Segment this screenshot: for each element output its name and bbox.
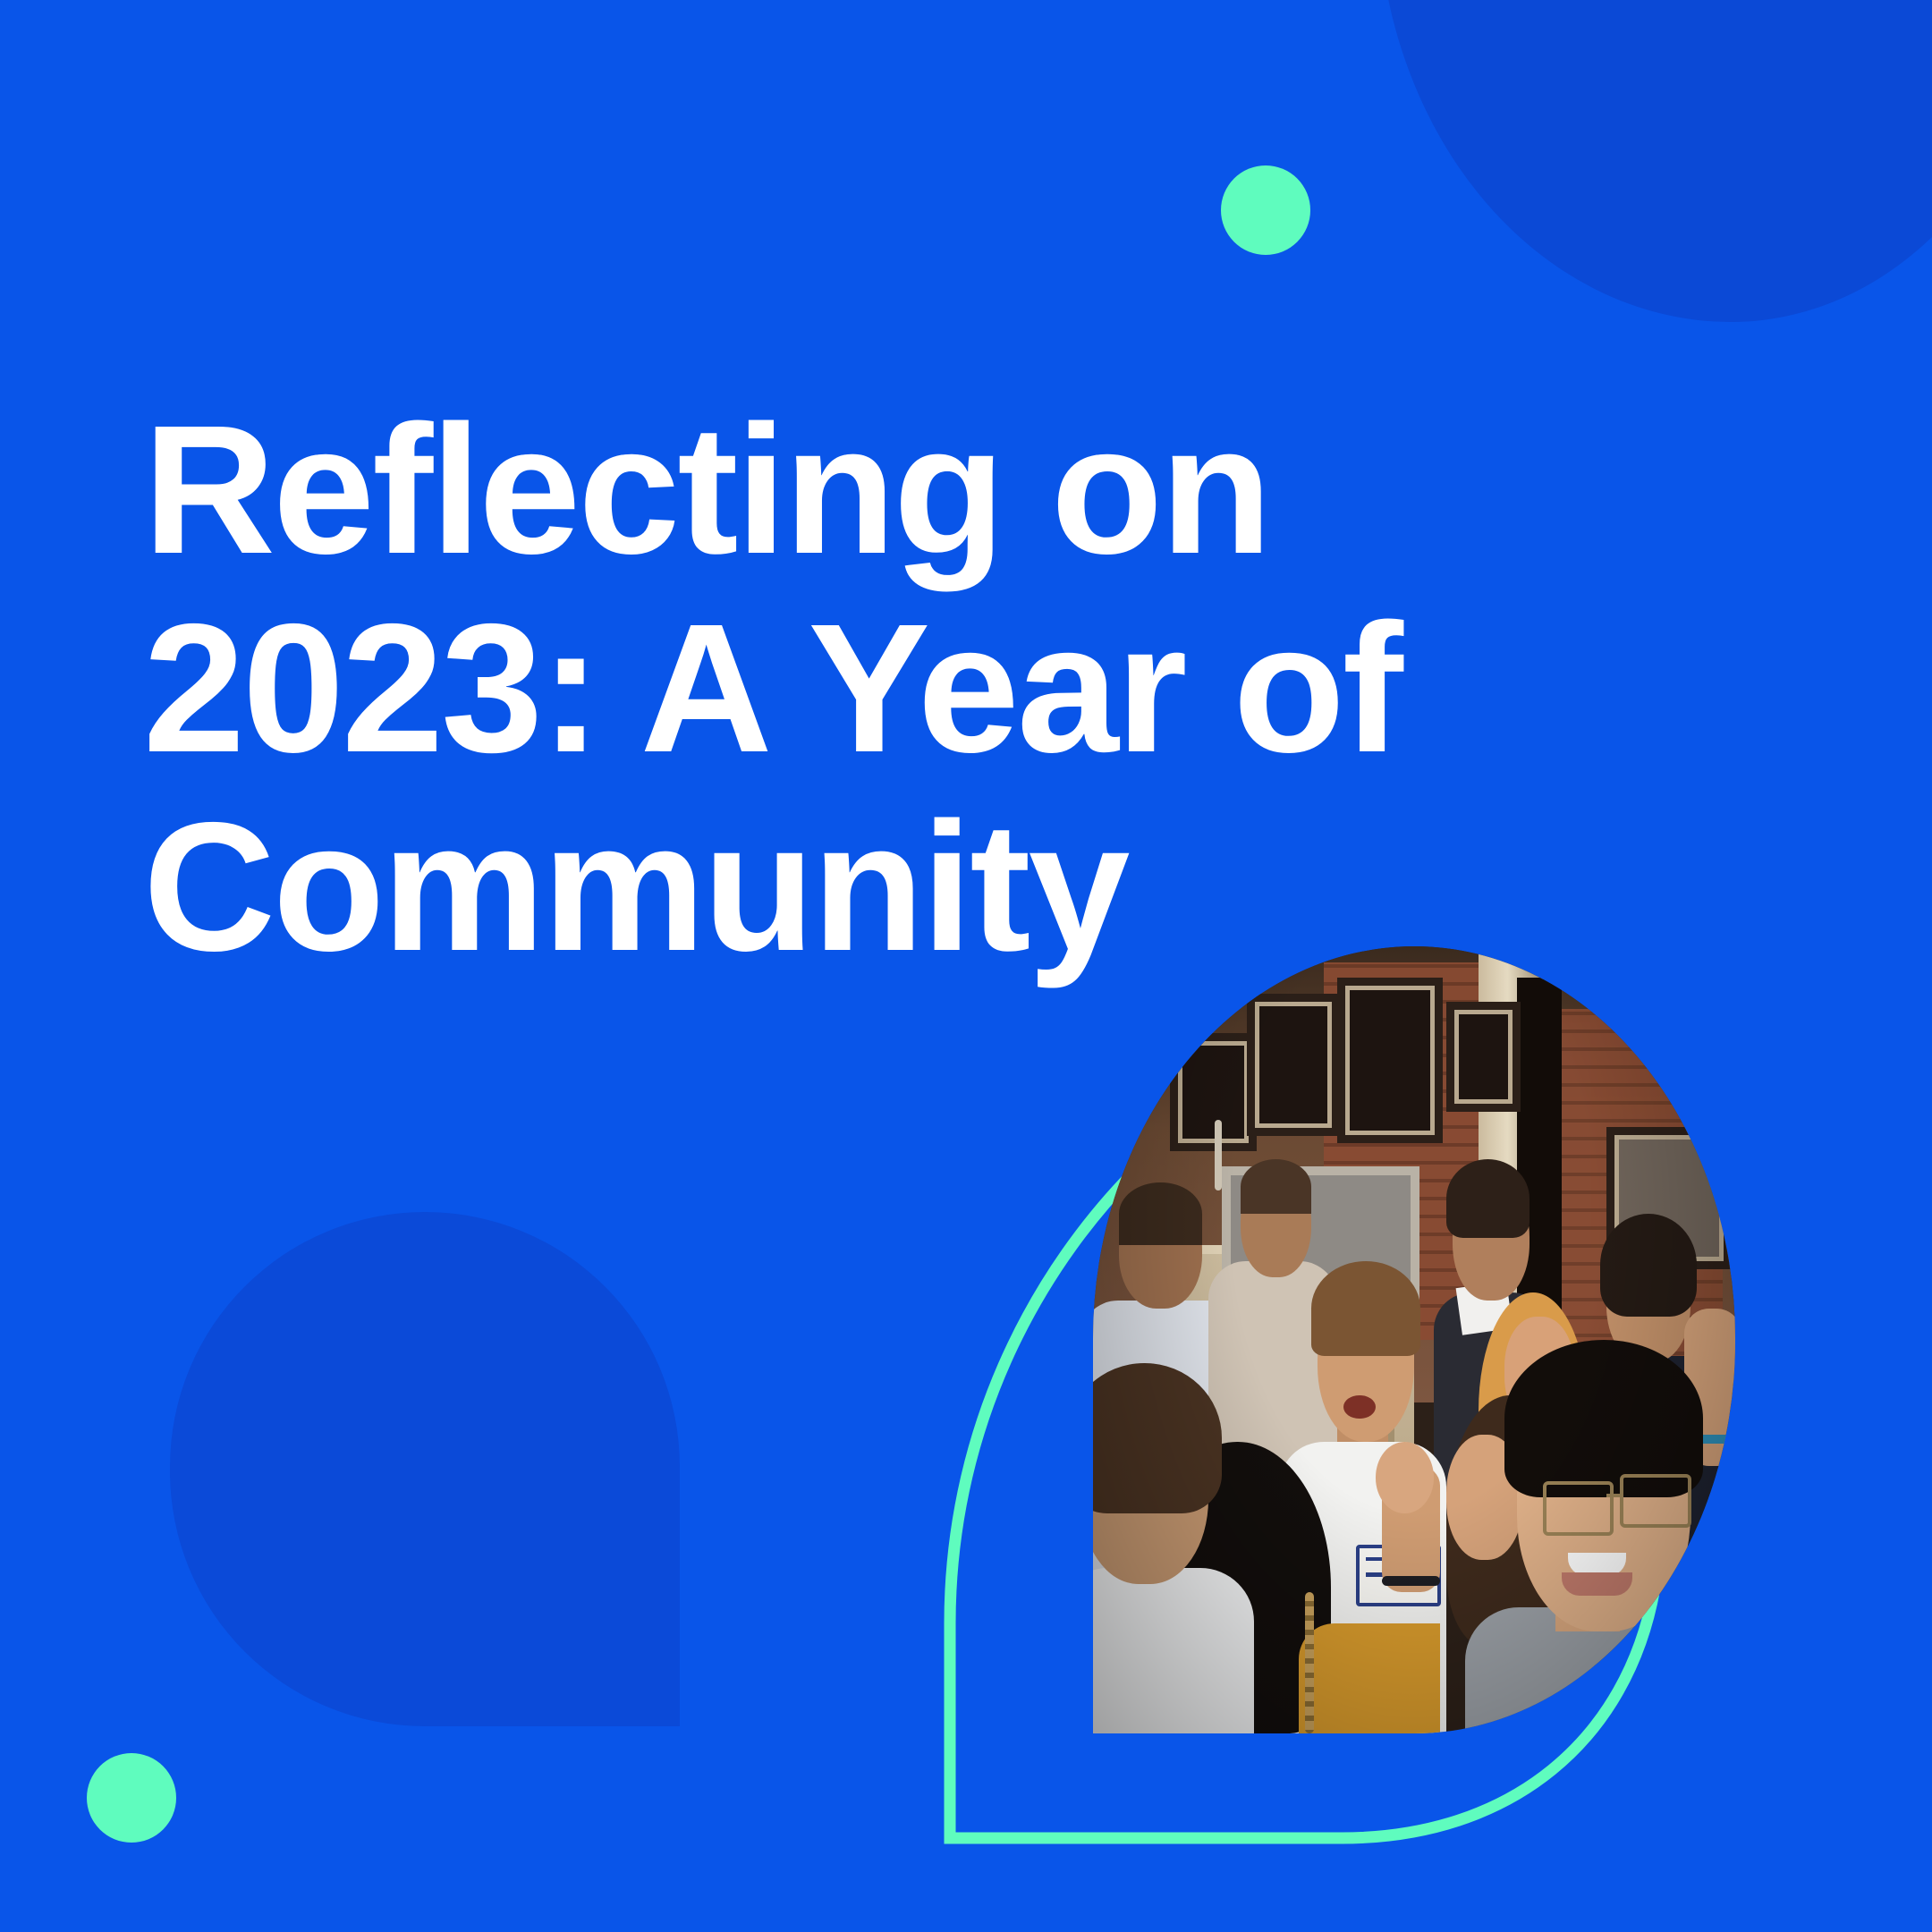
decorative-blob-top-right [1377,0,1932,322]
decorative-blob-bottom-left [170,1212,680,1726]
green-dot-top-icon [1221,165,1310,255]
green-dot-bottom-icon [87,1753,176,1843]
page-title: Reflecting on 2023: A Year of Community [143,391,1538,987]
social-card: Reflecting on 2023: A Year of Community [0,0,1932,1932]
event-photo [1093,946,1735,1733]
